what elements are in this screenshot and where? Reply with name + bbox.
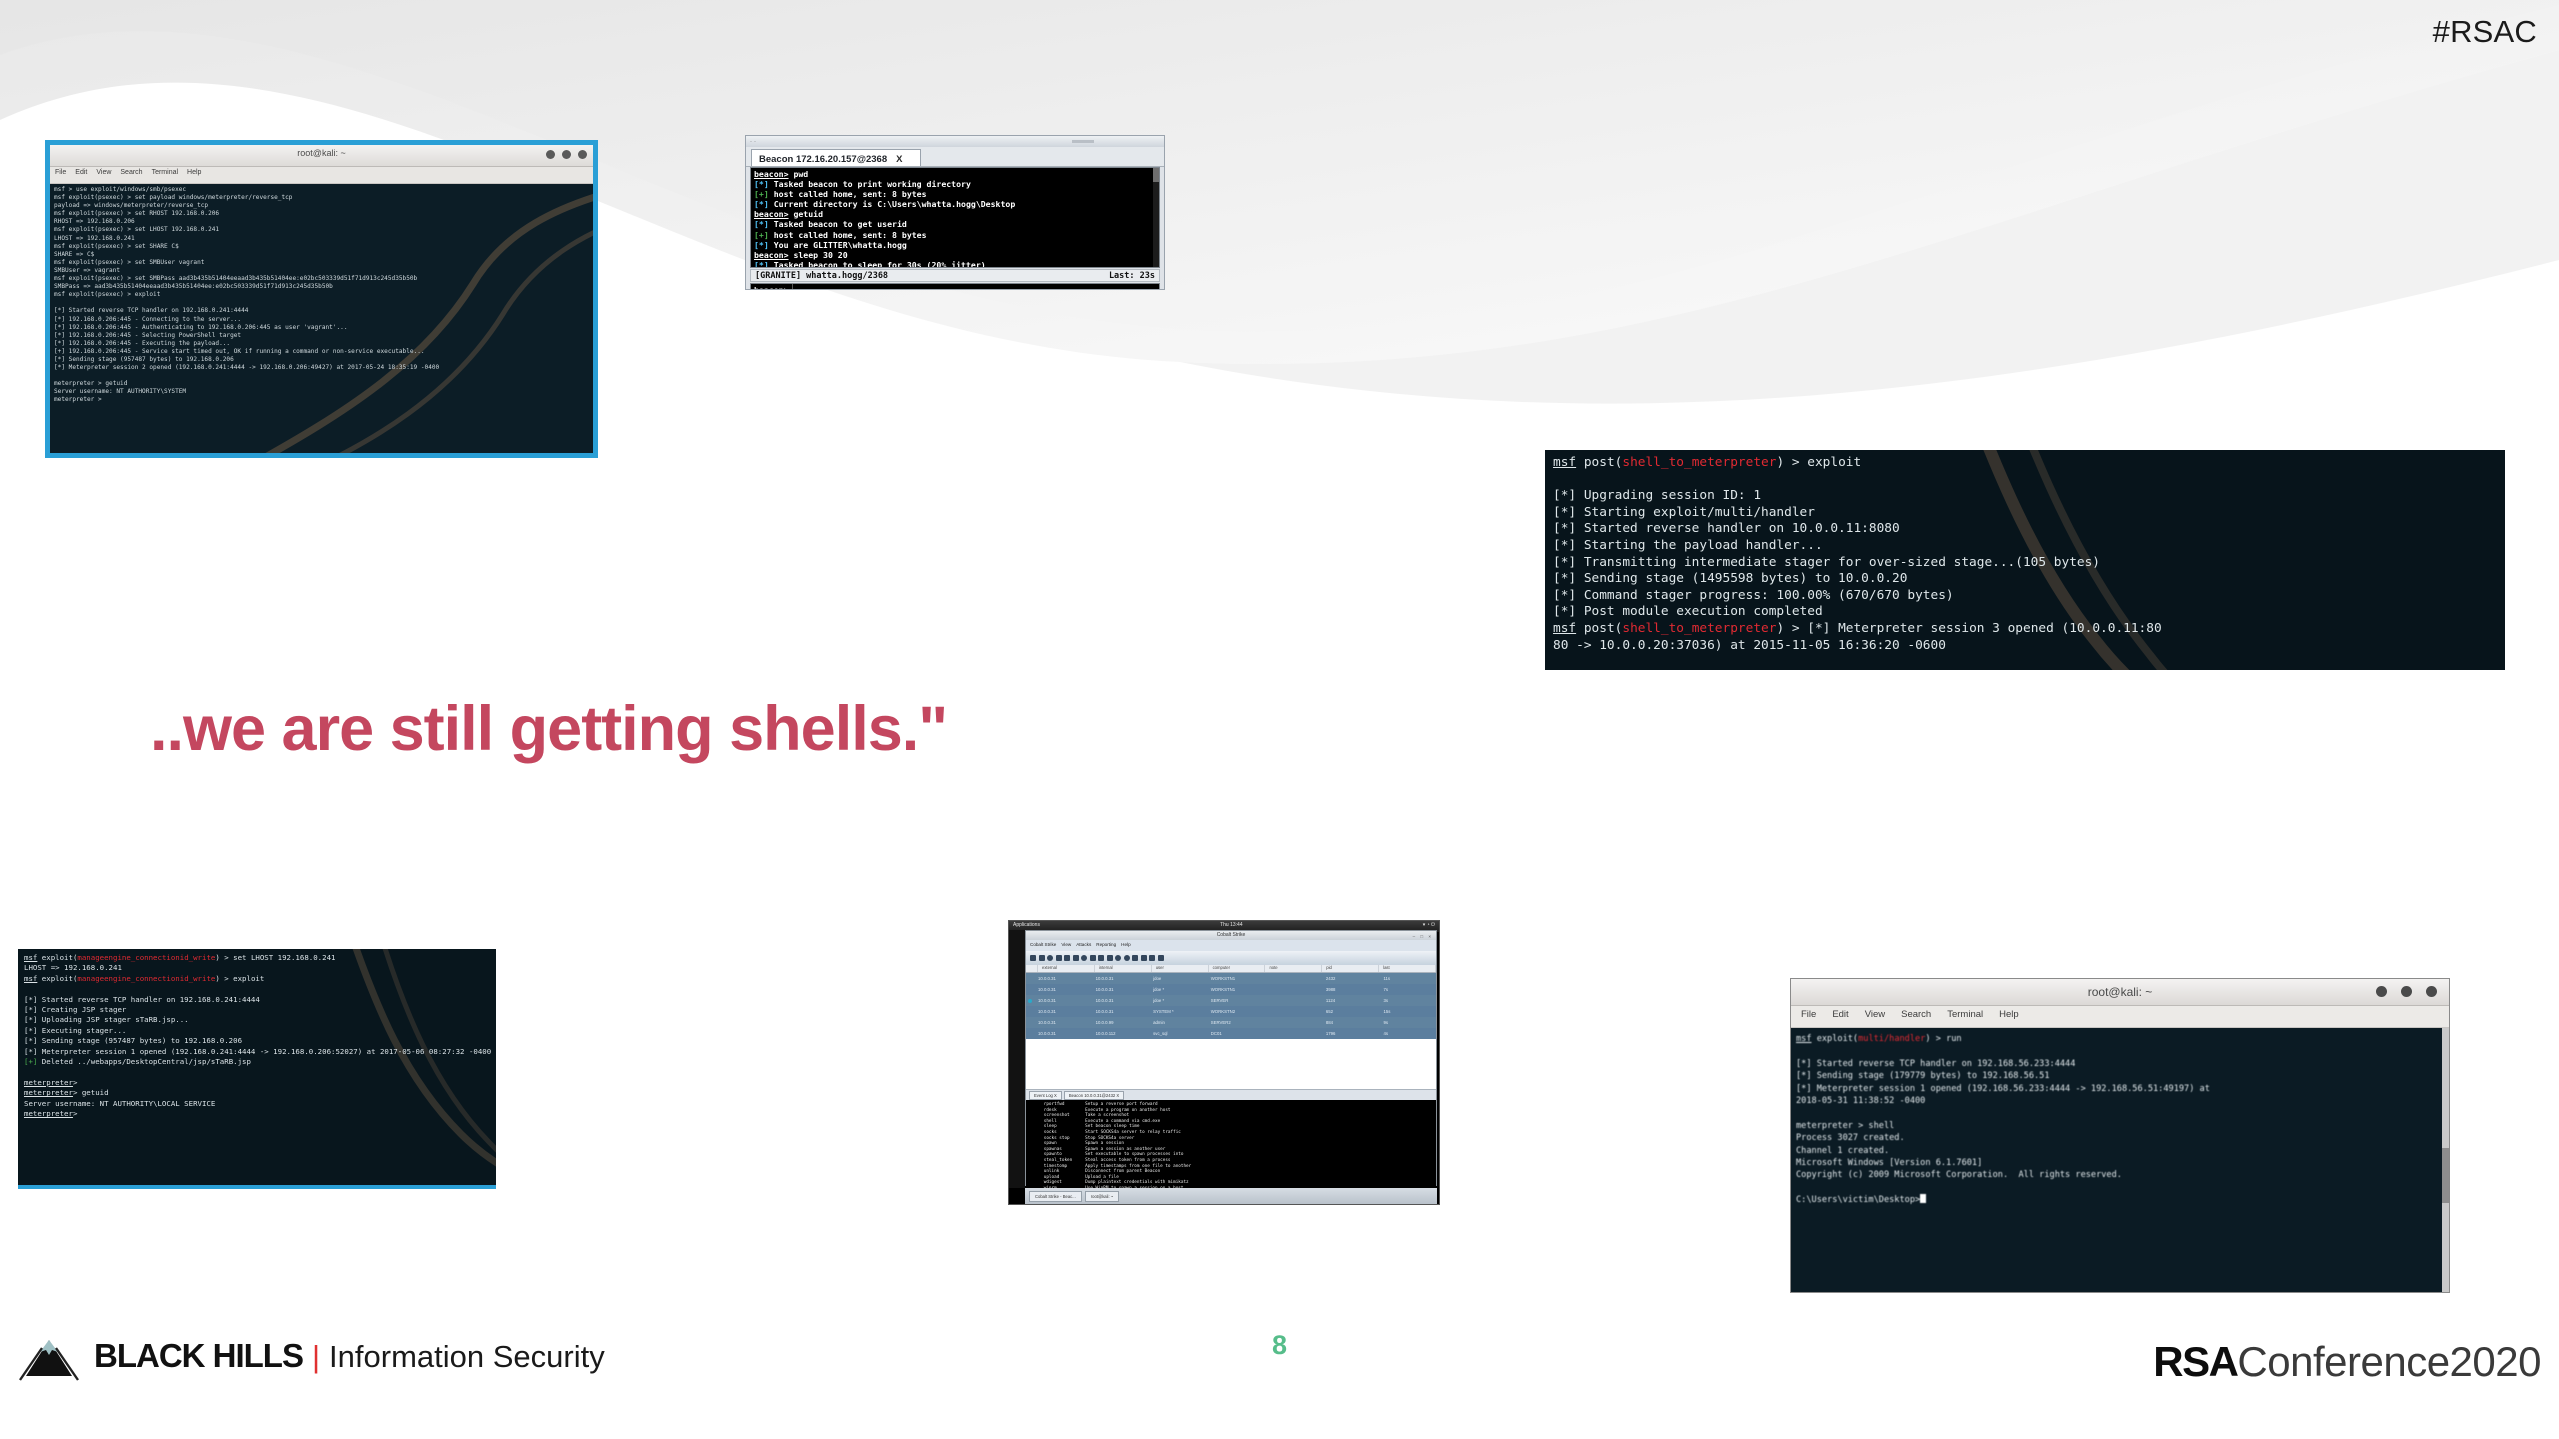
table-row[interactable]: 10.0.0.3110.0.0.31jdoe *SERVER11243s [1026,995,1436,1006]
table-cell: 1796 [1321,1031,1379,1036]
menu-edit[interactable]: Edit [75,169,87,183]
terminal-scrollbar[interactable] [2442,1028,2449,1293]
webdrive-icon[interactable] [1124,955,1130,961]
status-lastseen: Last: 23s [1109,271,1155,281]
preferences-icon[interactable] [1149,955,1155,961]
table-cell: SERVER2 [1206,1020,1264,1025]
table-row[interactable]: 10.0.0.3110.0.0.99adminSERVER28849s [1026,1017,1436,1028]
menu-file[interactable]: File [55,169,66,183]
listeners-icon[interactable] [1047,955,1053,961]
screenshot-msf-post-shell-to-meterpreter: msf post(shell_to_meterpreter) > exploit… [1545,450,2505,670]
table-cell: 10.0.0.31 [1091,1009,1149,1014]
tab-beacon-session[interactable]: Beacon 172.16.20.157@2368 X [751,149,921,166]
table-cell: 10.0.0.31 [1091,998,1149,1003]
screenshot-cobaltstrike-gui: Applications Thu 13:44 ▾ ◔ ⏻ Cobalt Stri… [1008,920,1440,1205]
host-file-icon[interactable] [1132,955,1138,961]
tab-label: Beacon 172.16.20.157@2368 [759,154,887,165]
rsa-conference-logo: RSA Conference2020 [2153,1338,2541,1386]
status-session: [GRANITE] whatta.hogg/2368 [755,271,888,281]
minimize-icon[interactable] [2376,986,2387,997]
scrollbar-thumb[interactable] [1153,168,1159,182]
menu-terminal[interactable]: Terminal [152,169,178,183]
screenshot-kali-multihandler-terminal: root@kali: ~ File Edit View Search Termi… [1790,978,2450,1293]
window-controls-icon[interactable]: – □ × [1413,932,1433,941]
rsac-hashtag: #RSAC [2433,14,2537,50]
table-cell: admin [1148,1020,1206,1025]
cs-menu-view[interactable]: View [1061,942,1071,951]
table-cell: jdoe [1148,976,1206,981]
about-icon[interactable] [1158,955,1164,961]
table-row[interactable]: 10.0.0.3110.0.0.112svc_sqlDC0117964s [1026,1028,1436,1039]
desktop-taskbar[interactable]: Cobalt Strike - Beac...root@kali: ~ [1025,1188,1437,1204]
table-cell: 10.0.0.31 [1033,998,1091,1003]
table-row[interactable]: 10.0.0.3110.0.0.31jdoe *WORKSTN139887s [1026,984,1436,995]
table-cell: 15s [1378,1009,1436,1014]
menubar[interactable]: File Edit View Search Terminal Help [1791,1006,2449,1028]
cs-toolbar[interactable] [1026,951,1436,965]
table-cell: 3988 [1321,987,1379,992]
table-cell: 7s [1378,987,1436,992]
beacon-console-output: beacon> pwd [*] Tasked beacon to print w… [751,168,1159,267]
cs-window-title: Cobalt Strike [1217,932,1246,938]
beacon-status-icon [1026,999,1033,1003]
cs-tab[interactable]: Beacon 10.0.0.31@2432 X [1064,1091,1124,1100]
session-table-icon[interactable] [1064,955,1070,961]
cs-column-header[interactable]: pid [1322,965,1379,972]
beacon-input-bar[interactable]: beacon> [750,283,1160,290]
table-cell: WORKSTN1 [1206,976,1264,981]
cs-column-header[interactable]: computer [1209,965,1266,972]
table-cell: 4s [1378,1031,1436,1036]
close-icon[interactable] [2426,986,2437,997]
minimize-icon[interactable] [546,150,555,159]
pivot-graph-icon[interactable] [1056,955,1062,961]
disconnect-icon[interactable] [1039,955,1045,961]
scrollbar-thumb[interactable] [2442,1148,2449,1203]
window-title: root@kali: ~ [50,148,593,158]
window-dots-icon: ·· [750,139,758,145]
desktop-left-dock [1009,930,1025,1188]
table-cell: SERVER [1206,998,1264,1003]
table-cell: WORKSTN1 [1206,987,1264,992]
cs-window-titlebar: Cobalt Strike – □ × [1026,931,1436,940]
cobaltstrike-window: Cobalt Strike – □ × Cobalt Strike View A… [1025,930,1437,1186]
keystrokes-icon[interactable] [1098,955,1104,961]
table-cell: jdoe * [1148,998,1206,1003]
screenshot-msf-manageengine-exploit: msf exploit(manageengine_connectionid_wr… [18,949,496,1189]
screenshots-icon[interactable] [1107,955,1113,961]
table-cell: 652 [1321,1009,1379,1014]
table-cell: 10.0.0.31 [1033,1020,1091,1025]
rsa-mark-text: RSA [2153,1338,2237,1386]
slide-headline: ..we are still getting shells." [150,693,947,765]
maximize-icon[interactable] [562,150,571,159]
cs-tabbar[interactable]: Event Log XBeacon 10.0.0.31@2432 X [1026,1089,1436,1100]
menu-help[interactable]: Help [1999,1009,2019,1027]
table-cell: 9s [1378,1020,1436,1025]
menubar[interactable]: File Edit View Search Terminal Help [50,167,593,184]
scripts-icon[interactable] [1115,955,1121,961]
cs-session-table[interactable]: 10.0.0.3110.0.0.31jdoeWORKSTN1243211s10.… [1026,973,1436,1039]
table-cell: 3s [1378,998,1436,1003]
menu-search[interactable]: Search [120,169,142,183]
console-scrollbar[interactable] [1153,168,1159,267]
menu-search[interactable]: Search [1901,1009,1931,1027]
cs-tab[interactable]: Event Log X [1029,1091,1062,1100]
terminal-body[interactable]: msf > use exploit/windows/smb/psexec msf… [50,184,593,456]
close-icon[interactable]: X [896,154,902,165]
taskbar-item[interactable]: Cobalt Strike - Beac... [1029,1191,1082,1202]
window-title: root@kali: ~ [1791,985,2449,999]
terminal-body[interactable]: msf exploit(multi/handler) > run [*] Sta… [1791,1028,2449,1293]
cs-menu-cobaltstrike[interactable]: Cobalt Strike [1030,942,1056,951]
cs-table-header: externalinternalusercomputernotepidlast [1026,965,1436,973]
cs-menu-help[interactable]: Help [1121,942,1130,951]
terminal-output: msf > use exploit/windows/smb/psexec msf… [50,184,593,407]
table-row[interactable]: 10.0.0.3110.0.0.31jdoeWORKSTN1243211s [1026,973,1436,984]
titlebar: root@kali: ~ [1791,979,2449,1006]
table-cell: 10.0.0.31 [1033,1031,1091,1036]
table-row[interactable]: 10.0.0.3110.0.0.31SYSTEM *WORKSTN265215s [1026,1006,1436,1017]
menu-view[interactable]: View [1865,1009,1885,1027]
new-connection-icon[interactable] [1030,955,1036,961]
cs-column-header[interactable]: user [1152,965,1209,972]
beacon-window-titlebar: ·· [746,136,1164,147]
table-cell: 10.0.0.31 [1033,987,1091,992]
downloads-icon[interactable] [1090,955,1096,961]
table-cell: 10.0.0.112 [1091,1031,1149,1036]
table-cell: 884 [1321,1020,1379,1025]
window-controls[interactable] [546,150,587,159]
beacon-input-prompt: beacon> [751,285,792,291]
table-cell: 10.0.0.31 [1091,987,1149,992]
msf-manageengine-console-output: msf exploit(manageengine_connectionid_wr… [18,949,496,1124]
menu-help[interactable]: Help [187,169,201,183]
table-cell: SYSTEM * [1148,1009,1206,1014]
table-cell: 10.0.0.31 [1033,1009,1091,1014]
beacon-tabrow: Beacon 172.16.20.157@2368 X [746,147,1164,167]
rsa-conference-text: Conference2020 [2237,1338,2541,1386]
table-cell: WORKSTN2 [1206,1009,1264,1014]
table-cell: 10.0.0.99 [1091,1020,1149,1025]
server-icon[interactable] [1141,955,1147,961]
beacon-statusbar: [GRANITE] whatta.hogg/2368 Last: 23s [750,269,1160,282]
terminal-output: msf exploit(multi/handler) > run [*] Sta… [1791,1028,2449,1212]
msf-post-console-output: msf post(shell_to_meterpreter) > exploit… [1545,450,2505,659]
menu-terminal[interactable]: Terminal [1947,1009,1983,1027]
window-minimize-icon[interactable] [1072,140,1094,143]
cs-table-empty-area [1026,1039,1436,1089]
close-icon[interactable] [578,150,587,159]
screenshot-cobaltstrike-beacon-console: ·· Beacon 172.16.20.157@2368 X beacon> p… [745,135,1165,290]
taskbar-item[interactable]: root@kali: ~ [1085,1191,1120,1202]
table-cell: 2432 [1321,976,1379,981]
beacon-command-input[interactable] [792,284,1159,290]
screenshot-kali-psexec-terminal: root@kali: ~ File Edit View Search Termi… [45,140,598,458]
table-cell: DC01 [1206,1031,1264,1036]
table-cell: 10.0.0.31 [1091,976,1149,981]
table-cell: 10.0.0.31 [1033,976,1091,981]
menu-edit[interactable]: Edit [1832,1009,1848,1027]
table-cell: 11s [1378,976,1436,981]
menu-file[interactable]: File [1801,1009,1816,1027]
table-cell: jdoe * [1148,987,1206,992]
cs-column-header[interactable]: note [1265,965,1322,972]
titlebar: root@kali: ~ [50,145,593,167]
menu-view[interactable]: View [96,169,111,183]
cs-column-header[interactable]: internal [1095,965,1152,972]
cs-menu-attacks[interactable]: Attacks [1076,942,1091,951]
window-controls[interactable] [2376,986,2437,997]
cs-menu-reporting[interactable]: Reporting [1096,942,1116,951]
table-cell: svc_sql [1148,1031,1206,1036]
beacon-console-wrapper[interactable]: beacon> pwd [*] Tasked beacon to print w… [750,167,1160,268]
table-cell: 1124 [1321,998,1379,1003]
cs-menubar[interactable]: Cobalt Strike View Attacks Reporting Hel… [1026,940,1436,951]
cs-console-output: rportfwd Setup a reverse port forward rd… [1036,1102,1436,1197]
credentials-icon[interactable] [1081,955,1087,961]
targets-icon[interactable] [1073,955,1079,961]
maximize-icon[interactable] [2401,986,2412,997]
cs-column-header[interactable]: last [1379,965,1436,972]
cs-column-header[interactable]: external [1038,965,1095,972]
